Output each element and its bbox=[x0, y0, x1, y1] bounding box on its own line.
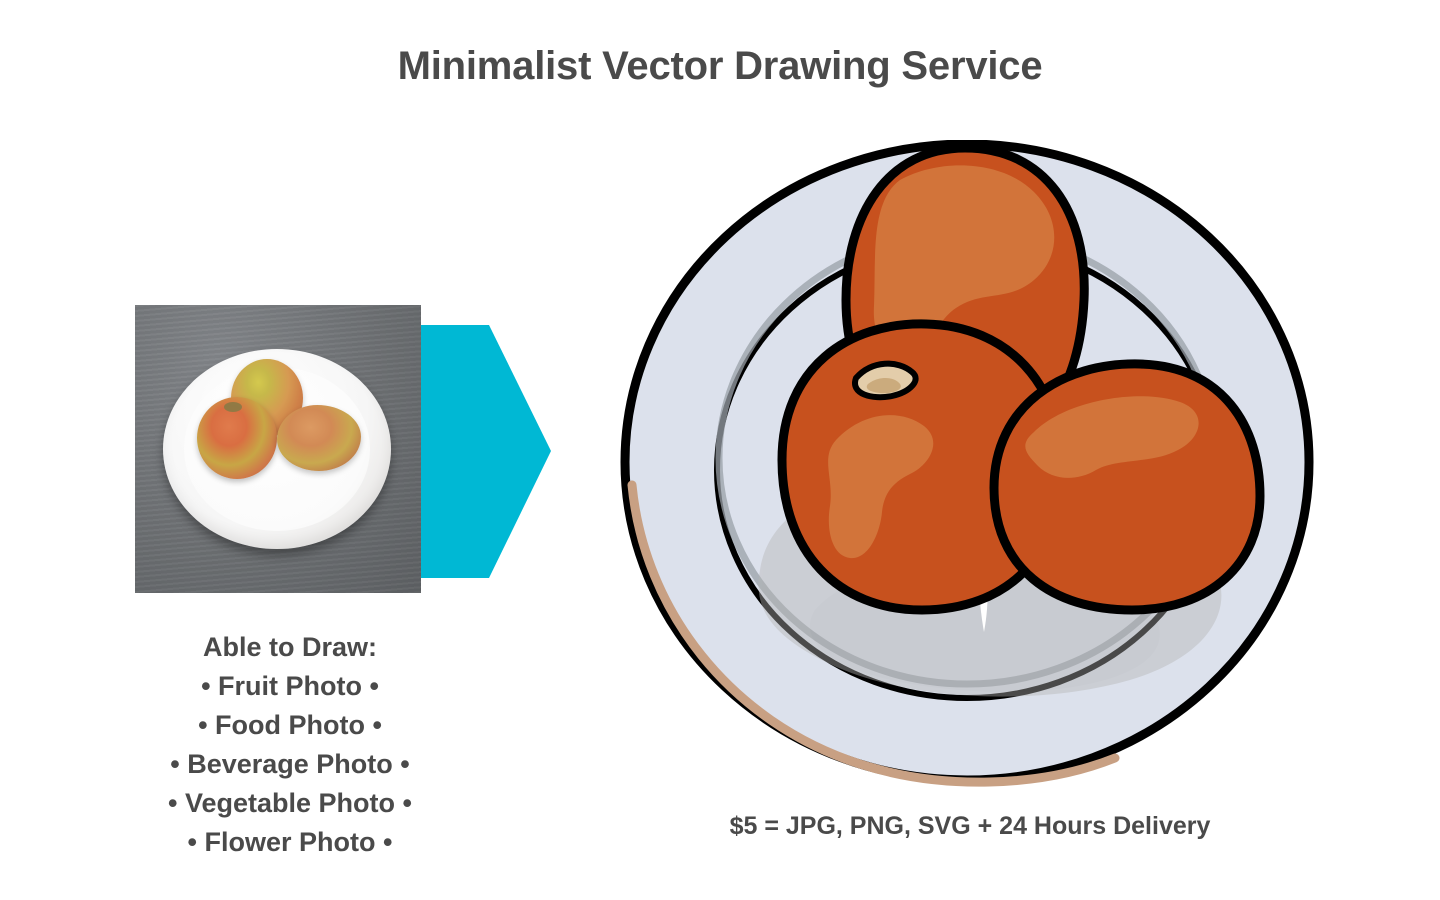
vector-illustration-tomatoes-on-plate bbox=[610, 140, 1330, 790]
illustration-tomato-right bbox=[994, 364, 1260, 610]
source-photo-thumbnail[interactable] bbox=[135, 305, 421, 593]
able-to-draw-list: Able to Draw: • Fruit Photo • • Food Pho… bbox=[40, 628, 540, 862]
able-to-draw-heading: Able to Draw: bbox=[40, 628, 540, 667]
price-delivery-text: $5 = JPG, PNG, SVG + 24 Hours Delivery bbox=[610, 812, 1330, 841]
list-item: • Vegetable Photo • bbox=[40, 784, 540, 823]
list-item: • Fruit Photo • bbox=[40, 667, 540, 706]
photo-tomato-right bbox=[277, 405, 361, 471]
list-item: • Food Photo • bbox=[40, 706, 540, 745]
page-title: Minimalist Vector Drawing Service bbox=[0, 44, 1440, 89]
list-item: • Beverage Photo • bbox=[40, 745, 540, 784]
illustration-stem-scar bbox=[855, 364, 916, 398]
photo-tomato-left bbox=[197, 397, 277, 479]
slide-canvas: Minimalist Vector Drawing Service bbox=[0, 0, 1440, 900]
list-item: • Flower Photo • bbox=[40, 823, 540, 862]
arrow-right-icon bbox=[421, 325, 551, 578]
